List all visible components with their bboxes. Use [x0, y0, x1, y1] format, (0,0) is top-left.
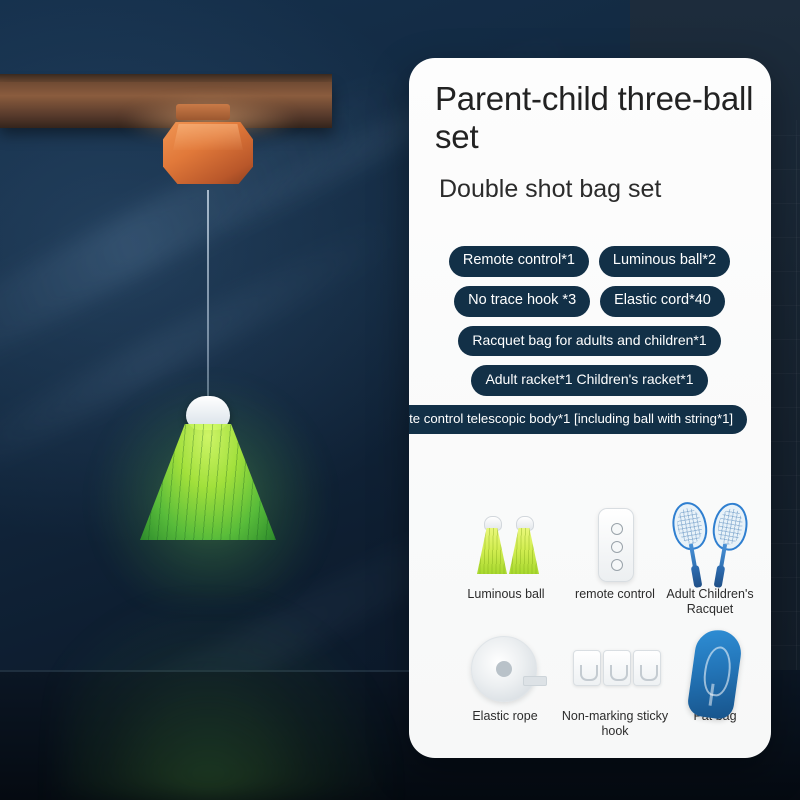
- shuttlecock-skirt: [509, 528, 539, 574]
- pat-bag-body: [686, 627, 744, 721]
- product-thumbnail-grid: Luminous ball remote control: [421, 506, 759, 750]
- spec-pill-row: Remote control*1 Luminous ball*2: [409, 246, 771, 277]
- racket-strings: [675, 506, 705, 546]
- spec-pill-racquet-bag: Racquet bag for adults and children*1: [458, 326, 720, 356]
- grid-label-elastic-rope: Elastic rope: [449, 709, 561, 724]
- spec-pill-luminous-ball: Luminous ball*2: [599, 246, 730, 277]
- hook-unit: [603, 650, 631, 686]
- racket-grip: [691, 565, 703, 588]
- shuttlecock-icon: [477, 516, 507, 574]
- shuttlecock-icon: [509, 516, 539, 574]
- grid-cell-rackets: Adult Children's Racquet: [661, 506, 759, 617]
- grid-cell-elastic-rope: Elastic rope: [449, 634, 561, 724]
- racket-head: [709, 500, 751, 553]
- rope-spool: [471, 636, 537, 702]
- elastic-rope-icon: [460, 634, 550, 704]
- product-photo-scene: Parent-child three-ball set Double shot …: [0, 0, 800, 800]
- spec-pill-row: Remote control telescopic body*1 [includ…: [409, 405, 771, 435]
- spec-pill-list: Remote control*1 Luminous ball*2 No trac…: [409, 246, 771, 443]
- spec-pill-remote-control: Remote control*1: [449, 246, 589, 277]
- remote-button: [611, 541, 623, 553]
- hanging-cord: [207, 190, 209, 402]
- remote-body: [598, 508, 634, 582]
- spec-pill-telescopic-body: Remote control telescopic body*1 [includ…: [409, 405, 747, 435]
- telescopic-body-device: [163, 114, 253, 192]
- racket-strings: [715, 507, 745, 547]
- rope-tail: [523, 676, 547, 686]
- device-highlight: [173, 124, 243, 150]
- card-title: Parent-child three-ball set: [435, 80, 765, 156]
- grid-cell-remote-control: remote control: [565, 506, 665, 602]
- hook-unit: [573, 650, 601, 686]
- product-info-card: Parent-child three-ball set Double shot …: [409, 58, 771, 758]
- pat-bag-icon: [680, 634, 750, 704]
- remote-button: [611, 559, 623, 571]
- grid-label-remote-control: remote control: [565, 587, 665, 602]
- spec-pill-row: Racquet bag for adults and children*1: [409, 326, 771, 356]
- remote-control-icon: [585, 506, 645, 582]
- grid-cell-luminous-ball: Luminous ball: [451, 506, 561, 602]
- grid-label-luminous-ball: Luminous ball: [451, 587, 561, 602]
- grid-label-sticky-hook: Non-marking sticky hook: [561, 709, 669, 739]
- sticky-hook-icon: [565, 634, 665, 704]
- racket-grip: [714, 565, 726, 588]
- card-subtitle: Double shot bag set: [439, 175, 769, 204]
- grid-label-rackets: Adult Children's Racquet: [661, 587, 759, 617]
- floor-light-reflection: [60, 600, 390, 800]
- children-racket-icon: [703, 500, 747, 590]
- grid-cell-pat-bag: Pat bag: [669, 634, 761, 724]
- spec-pill-row: Adult racket*1 Children's racket*1: [409, 365, 771, 395]
- spec-pill-no-trace-hook: No trace hook *3: [454, 286, 590, 317]
- shuttlecock-skirt: [477, 528, 507, 574]
- remote-button: [611, 523, 623, 535]
- spec-pill-elastic-cord: Elastic cord*40: [600, 286, 725, 317]
- hook-unit: [633, 650, 661, 686]
- spec-pill-row: No trace hook *3 Elastic cord*40: [409, 286, 771, 317]
- luminous-ball-icon: [463, 506, 549, 582]
- spec-pill-rackets: Adult racket*1 Children's racket*1: [471, 365, 707, 395]
- racquet-pair-icon: [670, 506, 750, 582]
- grid-cell-sticky-hook: Non-marking sticky hook: [561, 634, 669, 739]
